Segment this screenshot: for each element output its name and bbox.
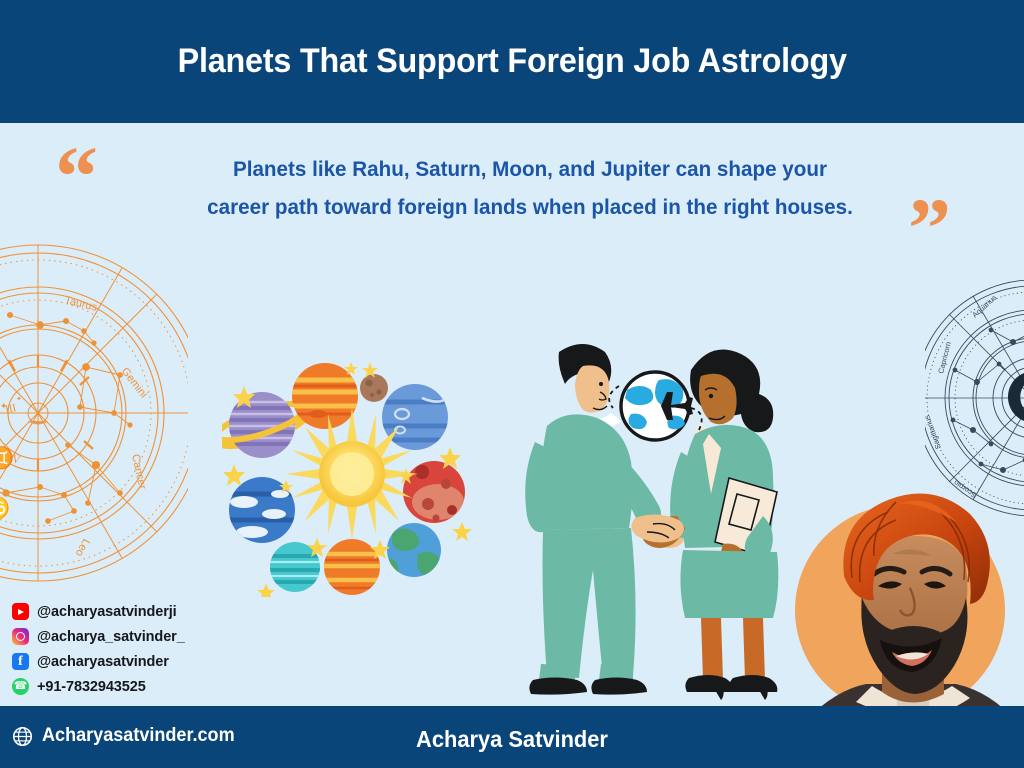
quote-text: Planets like Rahu, Saturn, Moon, and Jup… xyxy=(165,151,895,226)
quote-line-1: Planets like Rahu, Saturn, Moon, and Jup… xyxy=(233,157,827,181)
planet-mercury xyxy=(360,374,388,402)
planet-mars xyxy=(403,461,465,523)
quote-close-mark: ” xyxy=(908,185,951,271)
business-handshake-illustration xyxy=(495,330,785,710)
svg-text:Capricorn: Capricorn xyxy=(936,341,953,375)
social-row-facebook[interactable]: f @acharyasatvinder xyxy=(12,650,292,673)
social-handle-instagram: @acharya_satvinder_ xyxy=(37,629,185,645)
svg-text:♋: ♋ xyxy=(0,495,10,520)
planet-blue xyxy=(224,477,304,543)
quote-open-mark: “ xyxy=(55,133,98,219)
footer-bar: Acharyasatvinder.com Acharya Satvinder xyxy=(0,706,1024,768)
svg-text:✦: ✦ xyxy=(16,395,22,403)
quote-line-2: career path toward foreign lands when pl… xyxy=(165,189,895,227)
svg-text:Sagittarius: Sagittarius xyxy=(925,414,943,451)
infographic-canvas: Planets That Support Foreign Job Astrolo… xyxy=(0,0,1024,768)
instagram-icon[interactable] xyxy=(12,628,29,645)
social-handles-list: @acharyasatvinderji @acharya_satvinder_ … xyxy=(12,600,292,700)
svg-text:✦: ✦ xyxy=(0,401,8,411)
svg-text:Leo: Leo xyxy=(73,537,92,559)
social-handle-youtube: @acharyasatvinderji xyxy=(37,604,177,620)
facebook-icon[interactable]: f xyxy=(12,653,29,670)
header-bar: Planets That Support Foreign Job Astrolo… xyxy=(0,0,1024,123)
social-row-youtube[interactable]: @acharyasatvinderji xyxy=(12,600,292,623)
footer-brand-name: Acharya Satvinder xyxy=(26,726,999,753)
page-title: Planets That Support Foreign Job Astrolo… xyxy=(177,42,846,81)
svg-text:Taurus: Taurus xyxy=(63,294,98,314)
planet-earth xyxy=(384,523,441,577)
social-handle-facebook: @acharyasatvinder xyxy=(37,654,169,670)
svg-text:Cancer: Cancer xyxy=(129,453,148,491)
zodiac-wheel-left: ♈ ♉ ♊ ♋ ♌ ♍ I II III IV V VI Aries Tauru… xyxy=(0,243,188,583)
youtube-icon[interactable] xyxy=(12,603,29,620)
svg-text:Gemini: Gemini xyxy=(119,365,150,400)
whatsapp-icon[interactable]: ☎ xyxy=(12,678,29,695)
social-handle-whatsapp: +91-7832943525 xyxy=(37,679,146,695)
zodiac-wheel-right: ♓ ♒ ♑ ♐ ♏ ♎ Pisces Aquarius Capricorn Sa… xyxy=(925,278,1024,518)
globe-with-airplane xyxy=(609,372,702,440)
social-row-whatsapp[interactable]: ☎ +91-7832943525 xyxy=(12,675,292,698)
social-row-instagram[interactable]: @acharya_satvinder_ xyxy=(12,625,292,648)
solar-system-planets xyxy=(222,352,482,597)
